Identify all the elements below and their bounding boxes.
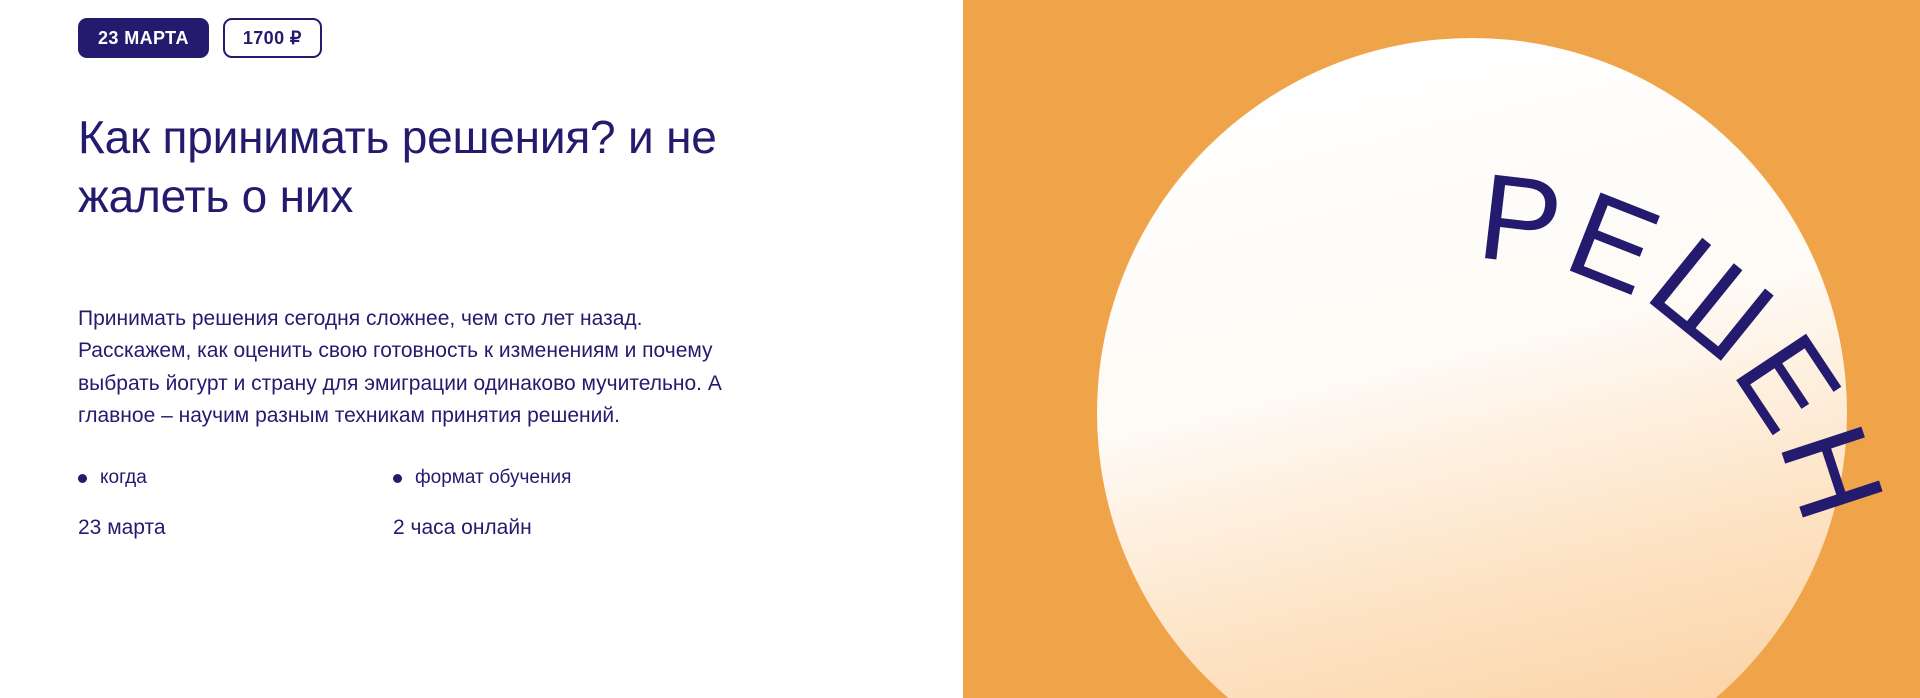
date-badge: 23 МАРТА: [78, 18, 209, 58]
circle-graphic: РЕШЕНИЯ: [963, 0, 1920, 698]
visual-pane: РЕШЕНИЯ: [963, 0, 1920, 698]
description-text: Принимать решения сегодня сложнее, чем с…: [78, 226, 738, 433]
promo-card: 23 МАРТА 1700 ₽ Как принимать решения? и…: [0, 0, 1920, 698]
bullet-dot-icon: [393, 474, 402, 483]
fact-label-row: когда: [78, 467, 393, 490]
page-title: Как принимать решения? и не жалеть о них: [78, 58, 718, 226]
fact-item-when: когда 23 марта: [78, 467, 393, 540]
fact-value: 23 марта: [78, 490, 393, 540]
content-pane: 23 МАРТА 1700 ₽ Как принимать решения? и…: [0, 0, 963, 698]
fact-item-format: формат обучения 2 часа онлайн: [393, 467, 708, 540]
price-badge: 1700 ₽: [223, 18, 322, 58]
fact-value: 2 часа онлайн: [393, 490, 708, 540]
facts-list: когда 23 марта формат обучения 2 часа он…: [78, 433, 963, 540]
fact-label: формат обучения: [415, 467, 571, 490]
badge-row: 23 МАРТА 1700 ₽: [78, 18, 963, 58]
bullet-dot-icon: [78, 474, 87, 483]
fact-label: когда: [100, 467, 147, 490]
fact-label-row: формат обучения: [393, 467, 708, 490]
